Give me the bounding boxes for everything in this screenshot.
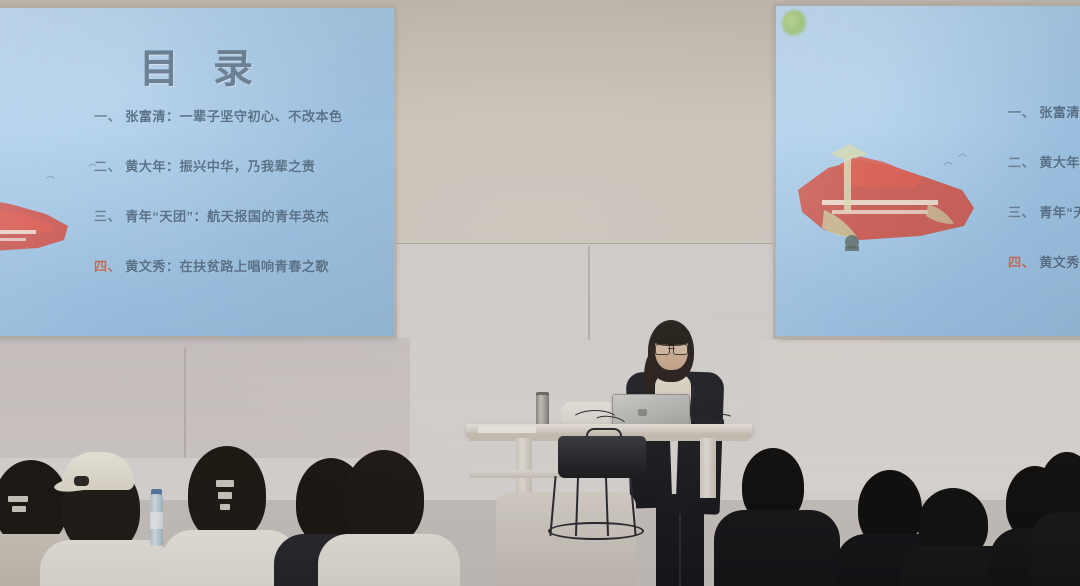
audience-head [344,450,424,546]
slide-item-2: 二、 黄大年：振兴中华，乃我辈之责 [94,156,394,206]
lower-wall-left [0,338,410,458]
laptop-logo [638,409,647,416]
slide-item-4-number-right: 四、 [1008,252,1035,271]
audience-body [1030,512,1080,586]
slide-item-2-text-right: 黄大年：振兴中华，乃我辈之责 [1039,152,1080,171]
glasses-lens-left [655,344,670,355]
green-blob-decoration [782,10,806,36]
slide-item-3-number-right: 三、 [1008,202,1035,221]
thermos-bottle [536,395,549,427]
slide-item-1-right: 一、 张富清：一辈子坚守初心、不改本色 [1008,102,1080,152]
bird-icon: ︿ [944,154,953,167]
slide-item-1-text-right: 张富清：一辈子坚守初心、不改本色 [1039,102,1080,121]
hair-clip [8,496,28,502]
audience-body [714,510,840,586]
lower-wall-seam [184,348,186,458]
slide-item-2-number: 二、 [94,156,121,175]
bird-icon: ︿ [46,168,55,181]
slide-item-3-right: 三、 青年“天团”：航天报国的青年英杰 [1008,202,1080,252]
slide-title: 目 录 [0,36,394,94]
water-bottle-label [150,512,163,529]
slide-item-3-text: 青年“天团”：航天报国的青年英杰 [125,206,329,225]
presenter-leg-split [679,514,681,586]
desk-leg-left [516,438,532,498]
slide-contents-list: 一、 张富清：一辈子坚守初心、不改本色 二、 黄大年：振兴中华，乃我辈之责 三、… [94,106,394,306]
slide-item-2-text: 黄大年：振兴中华，乃我辈之责 [125,156,315,175]
slide-item-1: 一、 张富清：一辈子坚守初心、不改本色 [94,106,394,156]
hair-clip [216,480,234,487]
center-wall-panel [396,0,782,246]
right-projection-screen: ︿ ︿ 目 录 一、 张富清：一辈子坚守初心、不改本色 二、 黄大年：振兴中华，… [776,6,1080,336]
lecture-hall-scene: ︿ ︿ 目 录 一、 张富清：一辈子坚守初心、不改本色 二、 黄大年：振兴中华，… [0,0,1080,586]
slide-contents-list-right: 一、 张富清：一辈子坚守初心、不改本色 二、 黄大年：振兴中华，乃我辈之责 三、… [1008,102,1080,302]
slide-item-2-right: 二、 黄大年：振兴中华，乃我辈之责 [1008,152,1080,202]
glasses-icon [655,344,688,353]
slide-item-2-number-right: 二、 [1008,152,1035,171]
slide-item-1-number-right: 一、 [1008,102,1035,121]
cap-logo [74,476,89,486]
hair-clip [218,492,232,499]
left-projection-screen: ︿ ︿ 目 录 一、 张富清：一辈子坚守初心、不改本色 二、 黄大年：振兴中华，… [0,8,394,336]
slide-item-4: 四、 黄文秀：在扶贫路上唱响青春之歌 [94,256,394,306]
audience-body [318,534,460,586]
desk-leg-right [700,438,716,498]
hair-clip [12,506,26,512]
slide-item-1-text: 张富清：一辈子坚守初心、不改本色 [125,106,342,125]
slide-item-3: 三、 青年“天团”：航天报国的青年英杰 [94,206,394,256]
slide-item-4-right: 四、 黄文秀：在扶贫路上唱响青春之歌 [1008,252,1080,302]
hair-clip [220,504,230,510]
slide-item-1-number: 一、 [94,106,121,125]
papers [478,426,536,433]
stool-ring [548,522,644,540]
wall-seam [588,246,590,352]
slide-item-3-number: 三、 [94,206,121,225]
slide-item-4-number: 四、 [94,256,121,275]
presenter-hair-front [653,324,690,346]
bird-icon: ︿ [958,146,967,159]
glasses-lens-right [673,344,688,355]
stool [548,476,640,540]
slide-item-4-text-right: 黄文秀：在扶贫路上唱响青春之歌 [1039,252,1080,271]
slide-item-4-text: 黄文秀：在扶贫路上唱响青春之歌 [125,256,329,275]
slide-item-3-text-right: 青年“天团”：航天报国的青年英杰 [1039,202,1080,221]
black-bag [558,436,646,478]
audience-body [40,540,174,586]
